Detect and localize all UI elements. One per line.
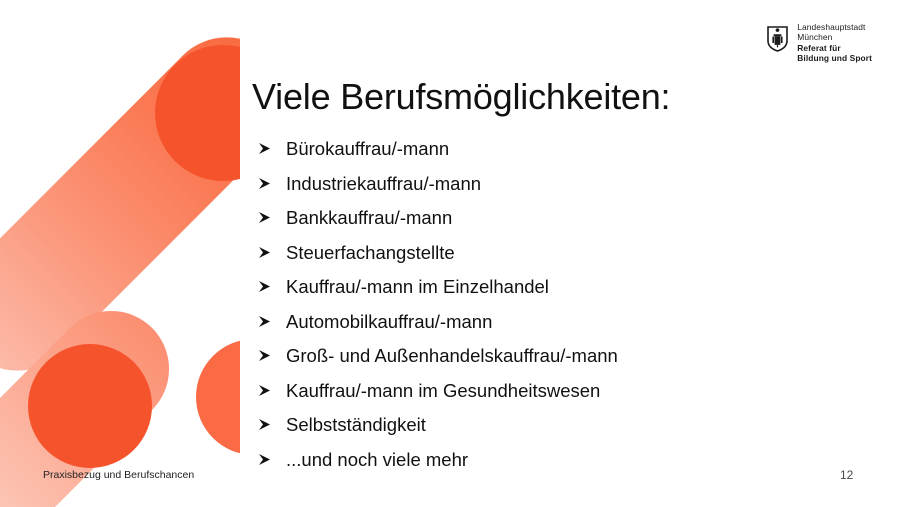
footer-note: Praxisbezug und Berufschancen — [43, 469, 194, 481]
arrowhead-bullet-icon — [258, 343, 286, 362]
list-item-label: Bankkauffrau/-mann — [286, 207, 452, 229]
list-item-label: Steuerfachangstellte — [286, 242, 455, 264]
list-item: Bankkauffrau/-mann — [258, 205, 858, 240]
slide-title: Viele Berufsmöglichkeiten: — [252, 76, 670, 118]
list-item-label: ...und noch viele mehr — [286, 449, 468, 471]
slide: Landeshauptstadt München Referat für Bil… — [0, 0, 900, 507]
list-item-label: Selbstständigkeit — [286, 414, 426, 436]
list-item-label: Groß- und Außenhandelskauffrau/-mann — [286, 345, 618, 367]
arrowhead-bullet-icon — [258, 136, 286, 155]
list-item-label: Automobilkauffrau/-mann — [286, 311, 492, 333]
arrowhead-bullet-icon — [258, 171, 286, 190]
list-item: Selbstständigkeit — [258, 412, 858, 447]
list-item: Groß- und Außenhandelskauffrau/-mann — [258, 343, 858, 378]
logo-line-1: Landeshauptstadt — [797, 22, 872, 32]
organisation-logo: Landeshauptstadt München Referat für Bil… — [767, 22, 872, 64]
list-item: Automobilkauffrau/-mann — [258, 309, 858, 344]
orange-circle-bottom — [28, 344, 152, 468]
arrowhead-bullet-icon — [258, 240, 286, 259]
orange-circle-mid — [196, 339, 240, 455]
list-item: Bürokauffrau/-mann — [258, 136, 858, 171]
arrowhead-bullet-icon — [258, 412, 286, 431]
orange-circle-top — [155, 45, 240, 181]
decorative-graphics — [0, 0, 240, 507]
career-options-list: Bürokauffrau/-mann Industriekauffrau/-ma… — [258, 136, 858, 481]
logo-text-block: Landeshauptstadt München Referat für Bil… — [797, 22, 872, 64]
arrowhead-bullet-icon — [258, 274, 286, 293]
diagonal-capsule-shape — [0, 12, 240, 397]
list-item-label: Industriekauffrau/-mann — [286, 173, 481, 195]
logo-line-4: Bildung und Sport — [797, 53, 872, 63]
logo-line-3: Referat für — [797, 43, 872, 53]
munich-coat-of-arms-icon — [767, 26, 788, 52]
list-item: ...und noch viele mehr — [258, 447, 858, 482]
list-item: Kauffrau/-mann im Gesundheitswesen — [258, 378, 858, 413]
page-number: 12 — [840, 468, 853, 482]
arrowhead-bullet-icon — [258, 309, 286, 328]
list-item-label: Kauffrau/-mann im Einzelhandel — [286, 276, 549, 298]
logo-line-2: München — [797, 32, 872, 42]
list-item-label: Bürokauffrau/-mann — [286, 138, 449, 160]
list-item-label: Kauffrau/-mann im Gesundheitswesen — [286, 380, 600, 402]
arrowhead-bullet-icon — [258, 205, 286, 224]
list-item: Industriekauffrau/-mann — [258, 171, 858, 206]
arrowhead-bullet-icon — [258, 378, 286, 397]
list-item: Kauffrau/-mann im Einzelhandel — [258, 274, 858, 309]
arrowhead-bullet-icon — [258, 447, 286, 466]
list-item: Steuerfachangstellte — [258, 240, 858, 275]
